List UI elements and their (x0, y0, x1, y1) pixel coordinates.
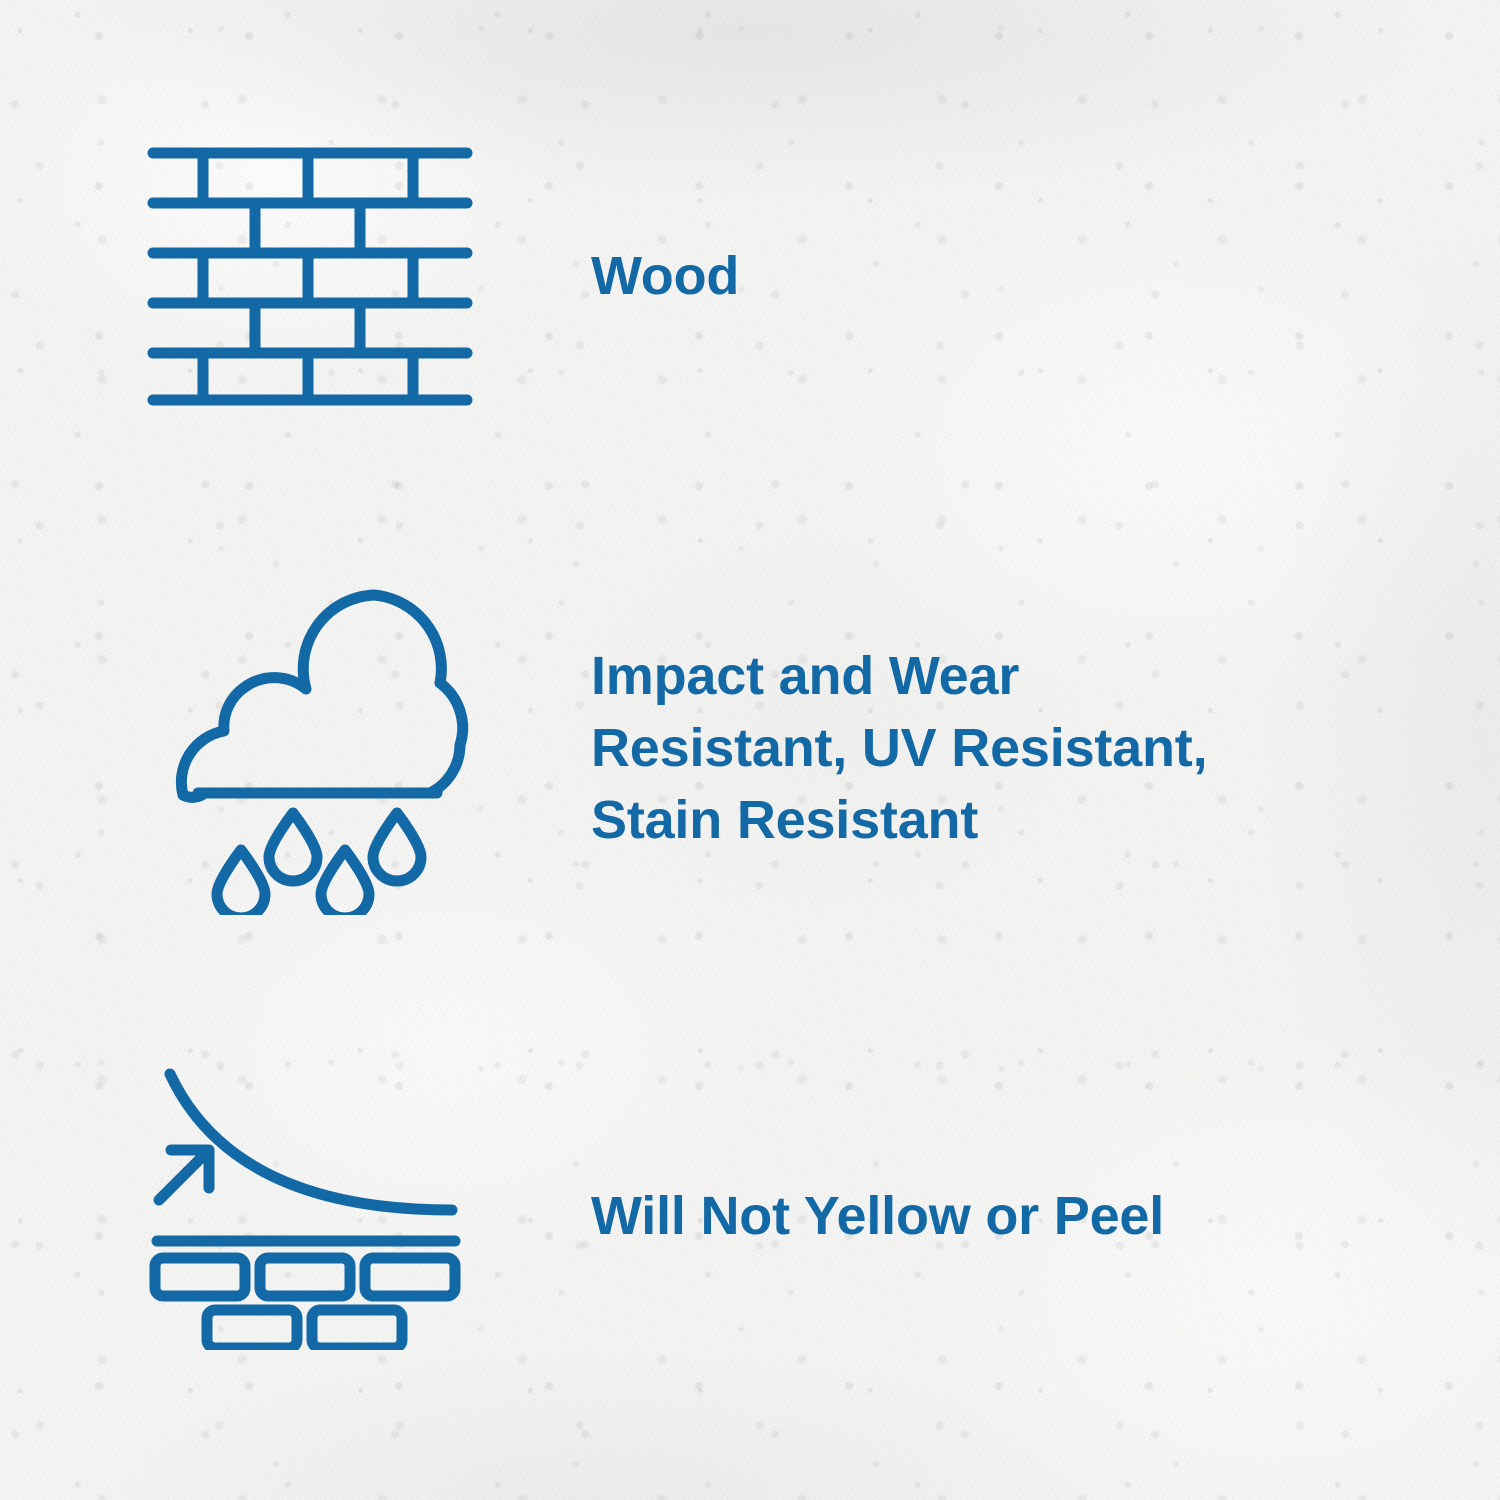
feature-label-wood: Wood (591, 240, 739, 312)
feature-label-durability: Will Not Yellow or Peel (591, 1180, 1164, 1252)
feature-label-resistance: Impact and Wear Resistant, UV Resistant,… (591, 640, 1207, 856)
no-yellow-peel-icon (145, 1060, 475, 1350)
feature-list-panel: Wood Impact and Wear Resistant, UV Resis… (0, 0, 1500, 1500)
brick-wall-icon (145, 140, 475, 408)
rain-cloud-icon (145, 585, 475, 915)
